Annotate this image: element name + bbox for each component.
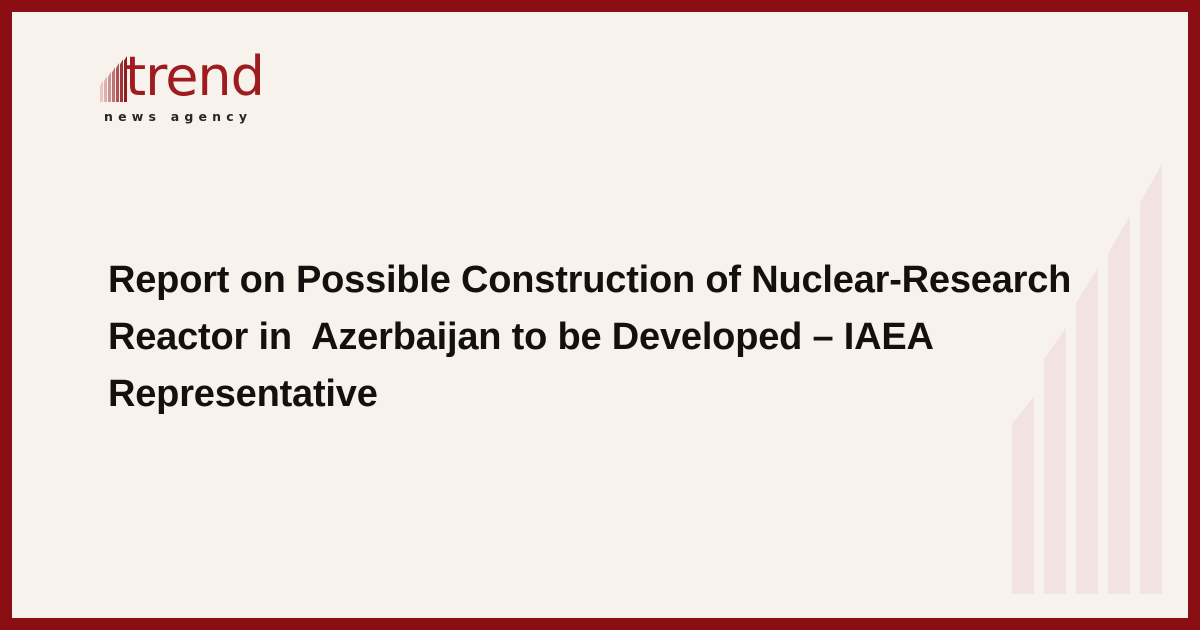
logo-wordmark: trend: [125, 52, 264, 102]
article-share-card: trend news agency Report on Possible Con…: [0, 0, 1200, 630]
logo-bar: [112, 67, 115, 102]
logo-bar: [108, 72, 111, 102]
trend-logo[interactable]: trend news agency: [100, 50, 280, 124]
logo-bar: [120, 59, 123, 102]
logo-bar: [104, 76, 107, 102]
card-canvas: trend news agency Report on Possible Con…: [12, 12, 1188, 618]
logo-tagline: news agency: [104, 109, 280, 124]
watermark-bar: [1108, 216, 1130, 594]
logo-mark-row: trend: [100, 50, 280, 102]
logo-bar: [100, 81, 103, 102]
article-headline: Report on Possible Construction of Nucle…: [108, 252, 1098, 423]
watermark-bar: [1012, 396, 1034, 594]
ascending-bars-mark-icon: [100, 56, 127, 102]
watermark-bar: [1140, 164, 1162, 594]
logo-bar: [124, 56, 127, 102]
logo-bar: [116, 63, 119, 102]
